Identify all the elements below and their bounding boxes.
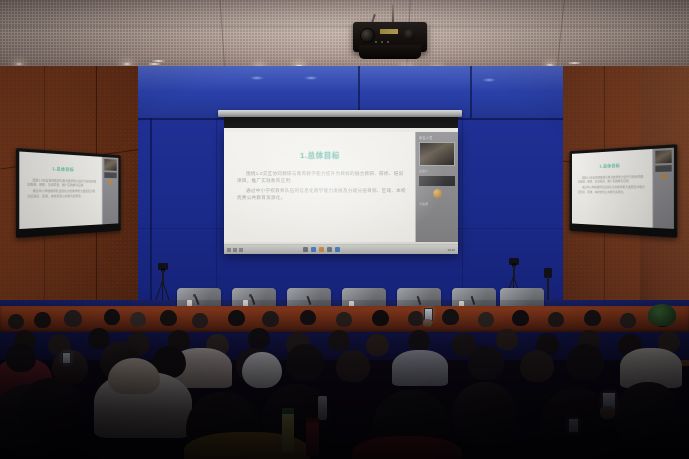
audience-area	[0, 300, 689, 459]
app-icon[interactable]	[335, 247, 340, 252]
task-view-icon[interactable]	[239, 248, 243, 252]
speaker-video-thumbnail[interactable]	[419, 142, 455, 166]
slide-content-area: 1.总体目标 围绕1.0交互协同教研与教育教学能力提升为目标的融合教研、研修、培…	[224, 132, 416, 242]
right-monitor-paragraph: 通过中小学校教师队伍的信息化教学能力发展及分级分层目标、区域、本校优秀公共教育资…	[578, 185, 646, 194]
left-monitor-screen: 1.总体目标 围绕1.0交互协同教研与教育教学能力提升为目标的融合教研、研修、培…	[19, 151, 118, 229]
participant-avatar	[433, 189, 442, 198]
right-monitor-slide-title: 1.总体目标	[572, 162, 652, 171]
search-icon[interactable]	[233, 248, 237, 252]
taskbar-pinned-apps[interactable]	[303, 247, 340, 252]
participant-video-thumbnail[interactable]	[419, 176, 455, 186]
ceiling-light-sheen	[0, 0, 689, 72]
left-monitor-slide-body: 围绕1.0交互协同教研与教育教学能力提升为目标的融合教研、研修、培训项目，推广实…	[27, 178, 96, 200]
downlight	[568, 62, 581, 64]
right-monitor-slide-body: 围绕1.0交互协同教研与教育教学能力提升为目标的融合教研、研修、培训项目，推广实…	[578, 174, 646, 196]
meeting-app-icon[interactable]	[327, 247, 332, 252]
microphone-head-icon	[249, 294, 252, 297]
downlight	[152, 60, 165, 62]
ceiling-seam	[0, 26, 689, 27]
projector-mount-pole	[392, 4, 394, 22]
conference-panel-header: 参会人员	[416, 132, 458, 140]
taskbar-clock[interactable]: 10:42	[447, 248, 458, 252]
speaker-name-label: 主讲人	[416, 168, 458, 174]
right-monitor-paragraph: 围绕1.0交互协同教研与教育教学能力提升为目标的融合教研、研修、培训项目，推广实…	[578, 174, 646, 184]
monitor-avatar	[661, 174, 666, 179]
left-monitor-paragraph: 围绕1.0交互协同教研与教育教学能力提升为目标的融合教研、研修、培训项目，推广实…	[27, 178, 96, 188]
left-wall-monitor[interactable]: 1.总体目标 围绕1.0交互协同教研与教育教学能力提升为目标的融合教研、研修、培…	[16, 148, 121, 238]
blue-panel-reflection	[304, 76, 318, 80]
projector-lens-icon	[360, 28, 375, 43]
right-wall-monitor[interactable]: 1.总体目标 围绕1.0交互协同教研与教育教学能力提升为目标的融合教研、研修、培…	[569, 144, 677, 238]
slide-paragraph: 通过中小学校教师队伍的信息化教学能力发展及分级分层目标、区域、本校优秀公共教育资…	[237, 187, 406, 201]
monitor-thumbnail	[104, 159, 116, 171]
projector-brand-label	[380, 29, 398, 34]
projection-screen[interactable]: 1.总体目标 围绕1.0交互协同教研与教育教学能力提升为目标的融合教研、研修、培…	[224, 128, 458, 254]
downlight	[148, 63, 161, 65]
participant-name-label: 与会者	[416, 201, 458, 207]
right-monitor-sidebar	[652, 148, 674, 229]
left-monitor-slide: 1.总体目标 围绕1.0交互协同教研与教育教学能力提升为目标的融合教研、研修、培…	[19, 151, 101, 229]
slide-paragraph: 围绕1.0交互协同教研与教育教学能力提升为目标的融合教研、研修、培训项目，推广实…	[237, 170, 406, 184]
monitor-avatar	[109, 180, 113, 185]
monitor-thumbnail	[655, 150, 671, 164]
video-conference-sidebar[interactable]: 参会人员 主讲人 与会者	[415, 132, 458, 242]
slide-title: 1.总体目标	[224, 150, 416, 161]
blue-panel-seam	[462, 118, 463, 308]
monitor-thumbnail	[655, 165, 671, 172]
microphone-head-icon	[193, 294, 196, 297]
blue-panel-reflection	[250, 76, 264, 80]
ceiling	[0, 0, 689, 72]
screen-valance	[218, 110, 462, 117]
blue-panel-gloss	[138, 66, 563, 92]
slide-body-text: 围绕1.0交互协同教研与教育教学能力提升为目标的融合教研、研修、培训项目，推广实…	[237, 170, 406, 204]
blue-panel-seam	[216, 118, 217, 308]
windows-taskbar[interactable]: 10:42	[224, 244, 458, 254]
audience-shadow-overlay	[0, 300, 689, 459]
start-button-icon[interactable]	[227, 248, 231, 252]
left-monitor-slide-title: 1.总体目标	[19, 165, 101, 174]
browser-icon[interactable]	[311, 247, 316, 252]
auditorium-scene: 1.总体目标 围绕1.0交互协同教研与教育教学能力提升为目标的融合教研、研修、培…	[0, 0, 689, 459]
right-monitor-screen: 1.总体目标 围绕1.0交互协同教研与教育教学能力提升为目标的融合教研、研修、培…	[572, 148, 674, 229]
screen-black-border	[224, 117, 458, 128]
projector-body-lower	[359, 45, 421, 59]
right-monitor-slide: 1.总体目标 围绕1.0交互协同教研与教育教学能力提升为目标的融合教研、研修、培…	[572, 149, 652, 228]
explorer-icon[interactable]	[303, 247, 308, 252]
left-monitor-paragraph: 通过中小学校教师队伍的信息化教学能力发展及分级分层目标、区域、本校优秀公共教育资…	[27, 189, 96, 198]
left-monitor-sidebar	[102, 157, 119, 224]
projector-sensor-icon	[404, 29, 415, 40]
monitor-thumbnail	[104, 172, 116, 178]
taskbar-start-area[interactable]	[224, 248, 243, 252]
blue-panel-reflection	[482, 78, 496, 82]
powerpoint-icon[interactable]	[319, 247, 324, 252]
blue-panel-seam	[470, 66, 472, 118]
